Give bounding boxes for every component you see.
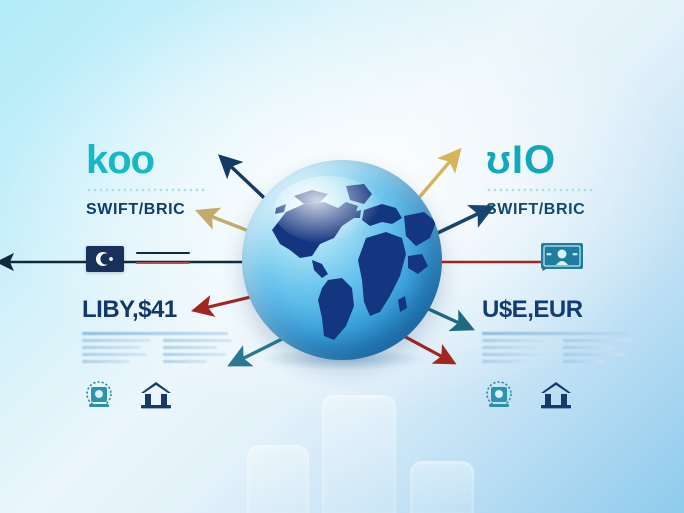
placeholder-column <box>82 339 151 367</box>
placeholder-line <box>163 346 217 349</box>
panel-bottom-right: U$E,EUR <box>482 296 632 411</box>
crescent-star-flag-icon <box>86 246 124 272</box>
brand-koo: koo <box>86 140 216 180</box>
infographic-canvas: koo SWIFT/BRIC ʊIO SWIFT/BRIC <box>0 0 684 513</box>
placeholder-line <box>482 360 529 363</box>
placeholder-column <box>482 339 551 367</box>
world-globe <box>228 152 456 380</box>
globe-landmasses <box>242 160 442 360</box>
banknote-portrait-icon <box>540 241 584 276</box>
panel-icons-bottom-left <box>82 379 232 411</box>
subtitle-swift-bric-left: SWIFT/BRIC <box>86 201 216 219</box>
bank-building-icon <box>538 379 574 411</box>
placeholder-line <box>482 339 551 342</box>
banknote-glyph <box>540 241 584 271</box>
rule-pair-left <box>136 252 190 264</box>
seal-emblem-icon <box>482 379 516 411</box>
placeholder-line <box>482 353 548 356</box>
placeholder-column <box>163 339 232 367</box>
heading-use-eur: U$E,EUR <box>482 296 632 324</box>
subtitle-swift-bric-right: SWIFT/BRIC <box>486 201 626 219</box>
placeholder-line <box>482 346 539 349</box>
placeholder-line <box>482 332 628 335</box>
globe-sphere <box>242 160 442 360</box>
heading-liby: LIBY,$41 <box>82 296 232 324</box>
placeholder-line <box>163 353 226 356</box>
placeholder-line <box>82 360 130 363</box>
panel-bottom-left: LIBY,$41 <box>82 296 232 411</box>
dotted-divider <box>86 186 208 194</box>
bank-building-icon <box>138 379 174 411</box>
placeholder-line <box>563 339 632 342</box>
panel-top-right: ʊIO SWIFT/BRIC <box>486 140 626 219</box>
brand-lio: ʊIO <box>486 140 626 180</box>
seal-emblem-icon <box>82 379 116 411</box>
placeholder-text-columns <box>82 339 232 367</box>
placeholder-line <box>563 360 604 363</box>
dotted-divider <box>486 186 596 194</box>
rule-dark <box>136 252 190 254</box>
placeholder-line <box>82 353 147 356</box>
placeholder-line <box>82 346 141 349</box>
rule-red <box>136 262 190 264</box>
placeholder-column <box>563 339 632 367</box>
placeholder-line <box>82 332 228 335</box>
crescent-star-glyph <box>86 246 124 272</box>
placeholder-line <box>163 360 207 363</box>
placeholder-line <box>563 353 625 356</box>
placeholder-line <box>563 346 614 349</box>
placeholder-line <box>163 339 232 342</box>
placeholder-text-columns <box>482 339 632 367</box>
panel-icons-bottom-right <box>482 379 632 411</box>
panel-top-left: koo SWIFT/BRIC <box>86 140 216 219</box>
placeholder-line <box>82 339 151 342</box>
